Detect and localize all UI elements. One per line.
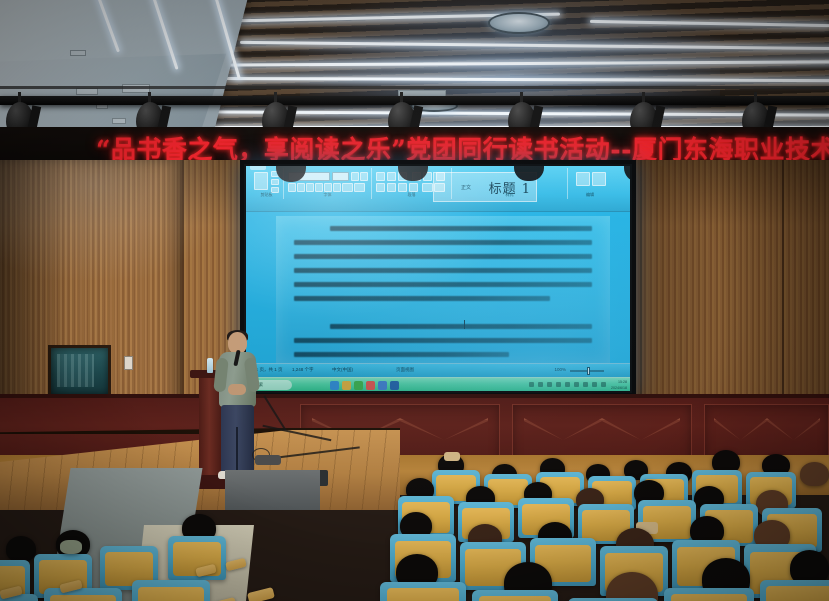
explorer-icon[interactable] [378,381,387,390]
tray-icon[interactable] [574,382,579,387]
font-size-combo[interactable] [332,172,349,181]
grow-font-button[interactable] [351,172,359,181]
ceiling-vent [70,50,86,56]
word-window[interactable]: 剪贴板 字体 [246,166,630,391]
audience-head [6,536,36,562]
tray-icon[interactable] [601,382,606,387]
numbered-list-button[interactable] [387,172,396,181]
style-normal-label[interactable]: 正文 [461,184,471,191]
word-ribbon[interactable]: 剪贴板 字体 [246,166,630,212]
shrink-font-button[interactable] [360,172,368,181]
bullet-list-button[interactable] [376,172,385,181]
bold-button[interactable] [288,183,296,192]
document-text-line [294,296,550,301]
ribbon-group-label: 字体 [284,192,371,198]
browser-icon[interactable] [330,381,339,390]
tray-icon[interactable] [565,382,570,387]
document-text-line [330,324,592,329]
ceiling-vent [112,118,126,124]
align-right-button[interactable] [398,183,407,192]
document-area[interactable] [246,212,630,363]
wainscot-cap-rail [0,394,829,398]
windows-taskbar[interactable]: 搜索 15:28 2024/6/18 [246,377,630,391]
hair-clip [444,452,460,461]
word-status-bar[interactable]: 第 1 页，共 1 页 1,248 个字 中文(中国) 页面视图 100% [246,363,630,377]
taskbar-clock-date: 2024/6/18 [611,385,627,391]
paste-button[interactable] [254,172,268,190]
word-icon[interactable] [390,381,399,390]
folder-icon[interactable] [342,381,351,390]
font-color-button[interactable] [354,183,365,192]
document-text-line [294,240,592,245]
tray-icon[interactable] [547,382,552,387]
lighting-truss [0,96,829,105]
lighting-truss-upper [0,86,829,89]
wechat-icon[interactable] [354,381,363,390]
document-text-line [330,226,592,231]
audience-area [0,430,829,601]
document-text-line [294,254,592,259]
document-paragraph-gap [294,310,592,315]
line-spacing-button[interactable] [422,183,433,192]
auditorium-seat[interactable] [44,588,122,601]
ribbon-group-editing[interactable]: 编辑 [568,168,612,199]
auditorium-seat[interactable] [132,580,210,601]
zoom-slider-handle[interactable] [587,367,590,375]
audience-shoulder [60,540,82,554]
tray-icon[interactable] [556,382,561,387]
superscript-button[interactable] [333,183,341,192]
align-center-button[interactable] [387,183,396,192]
status-word-count[interactable]: 1,248 个字 [292,367,314,373]
document-text-line [294,352,509,357]
copy-button[interactable] [271,179,279,185]
text-highlight-button[interactable] [342,183,353,192]
stage-light-silhouette [624,166,630,181]
tray-icon[interactable] [529,382,534,387]
taskbar-clock[interactable]: 15:28 2024/6/18 [611,379,627,391]
ribbon-group-label: 编辑 [568,192,612,198]
ribbon-group-label: 样式 [452,192,567,198]
status-language[interactable]: 中文(中国) [332,367,353,373]
strikethrough-button[interactable] [315,183,323,192]
document-text-line [294,268,592,273]
justify-button[interactable] [409,183,418,192]
ribbon-group-label: 剪贴板 [250,192,283,198]
tray-icon[interactable] [583,382,588,387]
align-left-button[interactable] [376,183,385,192]
ribbon-group-styles[interactable]: 正文 标题 1 样式 [452,168,568,199]
find-button[interactable] [576,172,590,186]
chrome-icon[interactable] [366,381,375,390]
wall-highlight [0,160,230,280]
underline-button[interactable] [306,183,314,192]
tray-icon[interactable] [538,382,543,387]
replace-button[interactable] [592,172,606,186]
ceiling-speaker-icon [488,12,550,34]
auditorium-seat[interactable] [760,580,829,601]
projection-screen[interactable]: 剪贴板 字体 [240,160,636,397]
document-page[interactable] [276,216,610,363]
light-switch[interactable] [124,356,133,370]
auditorium-seat[interactable] [664,588,754,601]
photo-scene: “品书香之气，享阅读之乐”党团同行读书活动--厦门东海职业技术学院第十一党支 剪… [0,0,829,601]
audience-head [800,462,829,486]
document-text-line [294,338,592,343]
text-caret [464,320,465,329]
status-view-label[interactable]: 页面视图 [396,367,414,373]
subscript-button[interactable] [324,183,332,192]
ceiling-vent [76,88,98,95]
auditorium-seat[interactable] [472,590,558,601]
status-zoom-level[interactable]: 100% [554,367,566,372]
italic-button[interactable] [297,183,305,192]
auditorium-seat[interactable] [380,582,466,601]
presenter-hands [228,384,246,395]
seat-armrest [247,587,275,601]
tray-icon[interactable] [592,382,597,387]
document-text-line [294,282,592,287]
